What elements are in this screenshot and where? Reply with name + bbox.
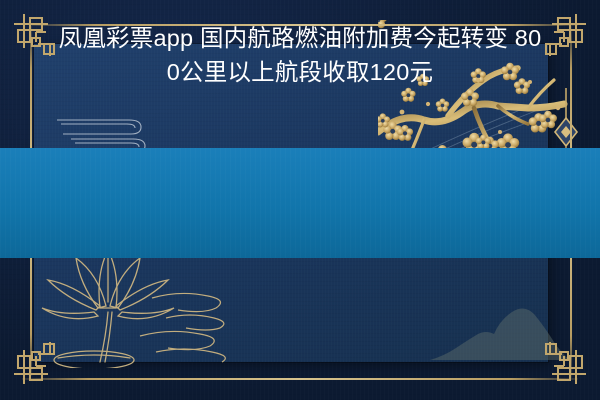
headline-band-texture <box>0 148 600 258</box>
headline: 凤凰彩票app 国内航路燃油附加费今起转变 80 0公里以上航段收取120元 <box>0 0 600 110</box>
headline-line-2: 0公里以上航段收取120元 <box>167 55 433 89</box>
headline-band <box>0 148 600 258</box>
frame-bottom-rule <box>22 378 578 380</box>
poster-banner: 凤凰彩票app 国内航路燃油附加费今起转变 80 0公里以上航段收取120元 <box>0 0 600 400</box>
mountain-silhouette <box>430 290 570 362</box>
headline-line-1: 凤凰彩票app 国内航路燃油附加费今起转变 80 <box>59 21 542 55</box>
